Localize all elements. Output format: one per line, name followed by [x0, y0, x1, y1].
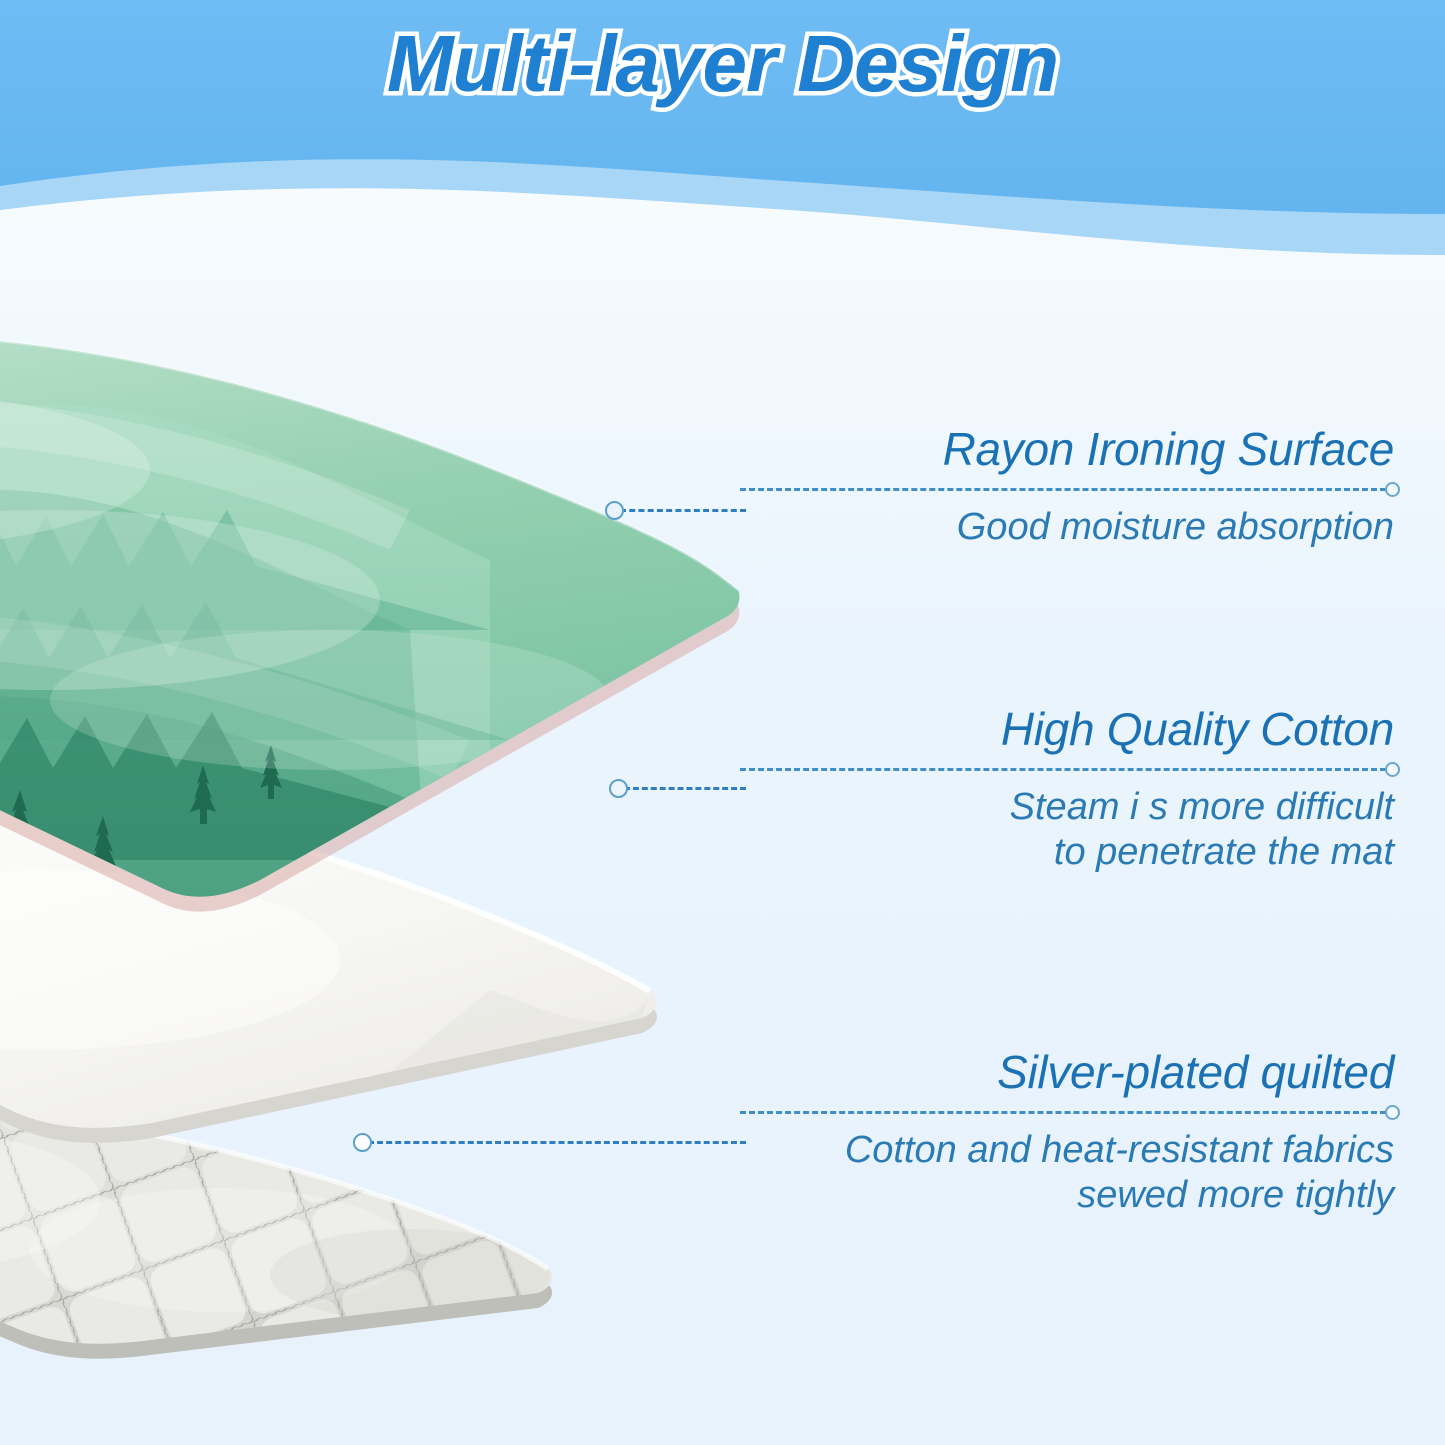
leader-dot-cotton [609, 779, 628, 798]
callout-high-quality-cotton: High Quality Cotton Steam i s more diffi… [740, 705, 1400, 874]
callout-description-quilted-line-1: Cotton and heat-resistant fabrics [740, 1128, 1400, 1173]
callout-dashline-rayon [740, 488, 1386, 491]
callout-title-cotton: High Quality Cotton [740, 705, 1400, 755]
infographic-canvas: Multi-layer Design Multi-layer Design [0, 0, 1445, 1445]
callout-endcap-cotton [1385, 762, 1400, 777]
callout-title-quilted: Silver-plated quilted [740, 1048, 1400, 1098]
callout-silver-plated-quilted: Silver-plated quilted Cotton and heat-re… [740, 1048, 1400, 1217]
product-layer-stack [0, 300, 800, 1360]
leader-line-cotton [624, 787, 746, 790]
callout-divider-rayon [740, 481, 1400, 497]
header-banner: Multi-layer Design Multi-layer Design [0, 0, 1445, 255]
rayon-ironing-surface-layer [0, 300, 800, 940]
leader-line-quilted [368, 1141, 746, 1144]
callout-rayon-ironing-surface: Rayon Ironing Surface Good moisture abso… [740, 425, 1400, 550]
callout-description-quilted-line-2: sewed more tightly [740, 1173, 1400, 1218]
product-layers-illustration [0, 300, 800, 1360]
callout-divider-quilted [740, 1104, 1400, 1120]
leader-dot-rayon [605, 501, 624, 520]
callout-endcap-quilted [1385, 1105, 1400, 1120]
callout-description-cotton-line-2: to penetrate the mat [740, 830, 1400, 875]
forest-print [0, 300, 800, 940]
callout-dashline-quilted [740, 1111, 1386, 1114]
page-title: Multi-layer Design [0, 18, 1445, 110]
callout-description-cotton-line-1: Steam i s more difficult [740, 785, 1400, 830]
callout-title-rayon: Rayon Ironing Surface [740, 425, 1400, 475]
callout-description-rayon-line-1: Good moisture absorption [740, 505, 1400, 550]
callout-dashline-cotton [740, 768, 1386, 771]
leader-line-rayon [620, 509, 746, 512]
leader-dot-quilted [353, 1133, 372, 1152]
callout-endcap-rayon [1385, 482, 1400, 497]
callout-divider-cotton [740, 761, 1400, 777]
